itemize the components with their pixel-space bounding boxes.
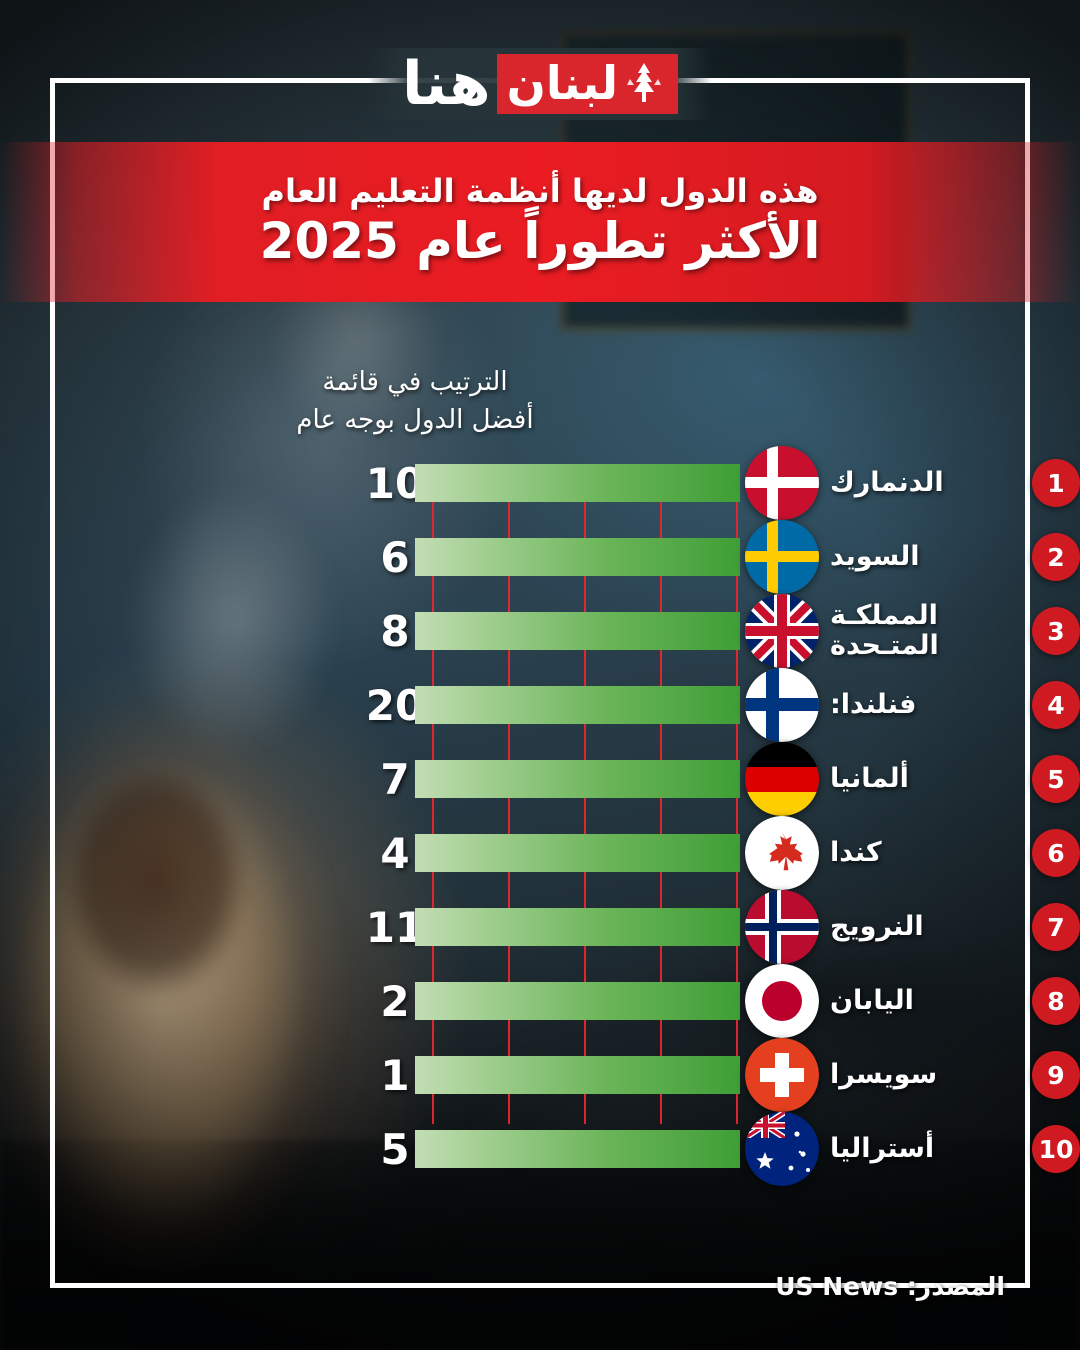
rank-badge: 3 [1032, 607, 1080, 655]
sweden-flag-icon [745, 520, 819, 594]
japan-flag-icon [745, 964, 819, 1038]
title-banner: هذه الدول لديها أنظمة التعليم العام الأك… [0, 142, 1080, 302]
bar [415, 982, 740, 1020]
country-name-label: سويسرا [830, 1060, 1020, 1090]
bar [415, 834, 740, 872]
denmark-flag-icon [745, 446, 819, 520]
chart-subtitle-line-1: الترتيب في قائمة [0, 364, 1080, 402]
country-name-label: الدنمارك [830, 468, 1020, 498]
title-line-2: الأكثر تطوراً عام 2025 [260, 213, 821, 271]
bar [415, 612, 740, 650]
bar [415, 760, 740, 798]
country-name-label: اليابان [830, 986, 1020, 1016]
country-name-label: السويد [830, 542, 1020, 572]
country-name-label: النرويج [830, 912, 1020, 942]
rank-badge: 4 [1032, 681, 1080, 729]
bar [415, 908, 740, 946]
country-name-label: ألمانيا [830, 764, 1020, 794]
chart-row: 7ألمانيا5 [0, 742, 1080, 816]
infographic-canvas: لبنان هنا هذه الدول لديها أنظمة التعليم … [0, 0, 1080, 1350]
chart-row: 4كندا6 [0, 816, 1080, 890]
chart-row: 1سويسرا9 [0, 1038, 1080, 1112]
rank-badge: 9 [1032, 1051, 1080, 1099]
rank-badge: 6 [1032, 829, 1080, 877]
chart-row: 6السويد2 [0, 520, 1080, 594]
cedar-tree-icon [624, 61, 664, 105]
united-kingdom-flag-icon [745, 594, 819, 668]
rank-badge: 7 [1032, 903, 1080, 951]
germany-flag-icon [745, 742, 819, 816]
logo-label-hona: هنا [402, 54, 491, 114]
brand-logo: لبنان هنا [368, 48, 712, 120]
country-name-label: كندا [830, 838, 1020, 868]
logo-red-box: لبنان [497, 54, 678, 114]
norway-flag-icon [745, 890, 819, 964]
logo-label-lebanon: لبنان [507, 60, 618, 106]
chart-row: 2اليابان8 [0, 964, 1080, 1038]
rank-badge: 2 [1032, 533, 1080, 581]
bar [415, 686, 740, 724]
ranking-bar-chart: 10الدنمارك16السويد28المملكـة المتـحدة320… [0, 446, 1080, 1206]
canada-flag-icon [745, 816, 819, 890]
chart-subtitle: الترتيب في قائمة أفضل الدول بوجه عام [0, 364, 1080, 439]
country-name-label: فنلندا: [830, 690, 1020, 720]
chart-row: 11النرويج7 [0, 890, 1080, 964]
finland-flag-icon [745, 668, 819, 742]
country-name-label: المملكـة المتـحدة [830, 601, 1020, 661]
bar [415, 1056, 740, 1094]
source-label: المصدر: US News [775, 1272, 1005, 1301]
bar [415, 1130, 740, 1168]
bar [415, 464, 740, 502]
chart-subtitle-line-2: أفضل الدول بوجه عام [0, 402, 1080, 440]
chart-rows: 10الدنمارك16السويد28المملكـة المتـحدة320… [0, 446, 1080, 1186]
switzerland-flag-icon [745, 1038, 819, 1112]
rank-badge: 10 [1032, 1125, 1080, 1173]
chart-row: 20فنلندا:4 [0, 668, 1080, 742]
rank-badge: 1 [1032, 459, 1080, 507]
australia-flag-icon [745, 1112, 819, 1186]
chart-row: 10الدنمارك1 [0, 446, 1080, 520]
chart-row: 8المملكـة المتـحدة3 [0, 594, 1080, 668]
rank-badge: 8 [1032, 977, 1080, 1025]
rank-badge: 5 [1032, 755, 1080, 803]
country-name-label: أستراليا [830, 1134, 1020, 1164]
bar [415, 538, 740, 576]
chart-row: 5أستراليا10 [0, 1112, 1080, 1186]
title-line-1: هذه الدول لديها أنظمة التعليم العام [262, 174, 819, 209]
